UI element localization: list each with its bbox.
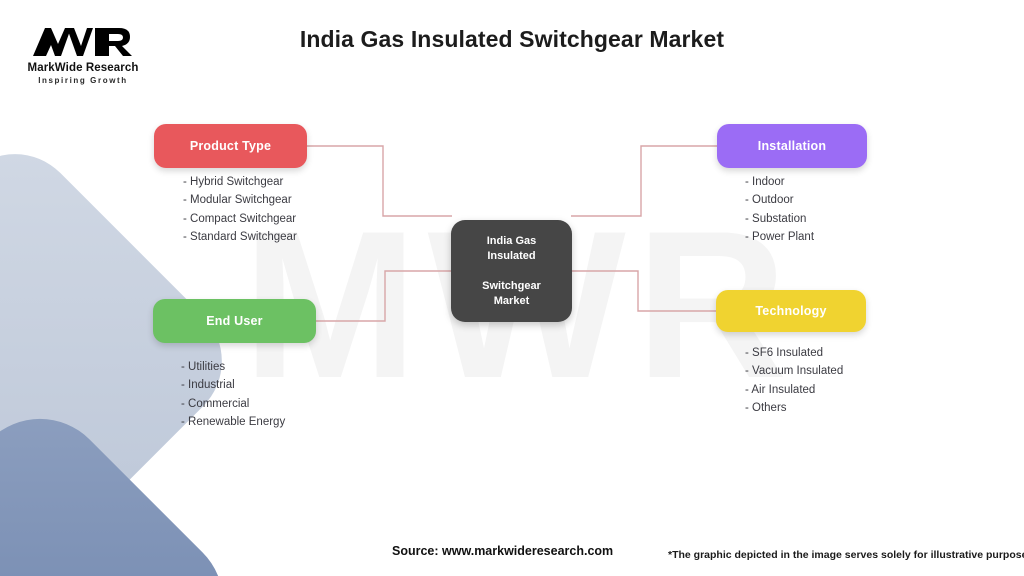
disclaimer-text: *The graphic depicted in the image serve… (668, 549, 1024, 561)
list-item: - Power Plant (745, 228, 814, 246)
list-item: - Vacuum Insulated (745, 362, 843, 380)
list-item: - Others (745, 399, 843, 417)
hub-line-1: India Gas Insulated (459, 234, 564, 264)
category-list-end-user: - Utilities - Industrial - Commercial - … (181, 358, 285, 431)
list-item: - Substation (745, 210, 814, 228)
category-label-technology: Technology (755, 304, 826, 318)
connector-technology (571, 271, 716, 311)
list-item: - Commercial (181, 395, 285, 413)
list-item: - Renewable Energy (181, 413, 285, 431)
list-item: - Outdoor (745, 191, 814, 209)
category-list-installation: - Indoor - Outdoor - Substation - Power … (745, 173, 814, 246)
infographic-canvas: MWR MarkWide Research Inspiring Growth I… (0, 0, 1024, 576)
hub-line-2: Switchgear Market (459, 279, 564, 309)
list-item: - Modular Switchgear (183, 191, 297, 209)
list-item: - Hybrid Switchgear (183, 173, 297, 191)
list-item: - Standard Switchgear (183, 228, 297, 246)
category-box-product-type[interactable]: Product Type (154, 124, 307, 168)
source-text: Source: www.markwideresearch.com (392, 544, 613, 558)
connector-installation (571, 146, 717, 216)
list-item: - Indoor (745, 173, 814, 191)
list-item: - SF6 Insulated (745, 344, 843, 362)
category-label-product-type: Product Type (190, 139, 271, 153)
category-box-end-user[interactable]: End User (153, 299, 316, 343)
connector-end-user (316, 271, 452, 321)
category-list-technology: - SF6 Insulated - Vacuum Insulated - Air… (745, 344, 843, 417)
connector-product-type (307, 146, 452, 216)
center-hub: India Gas Insulated Switchgear Market (451, 220, 572, 322)
category-label-end-user: End User (206, 314, 262, 328)
category-box-technology[interactable]: Technology (716, 290, 866, 332)
list-item: - Industrial (181, 376, 285, 394)
category-box-installation[interactable]: Installation (717, 124, 867, 168)
category-label-installation: Installation (758, 139, 826, 153)
list-item: - Utilities (181, 358, 285, 376)
list-item: - Compact Switchgear (183, 210, 297, 228)
category-list-product-type: - Hybrid Switchgear - Modular Switchgear… (183, 173, 297, 246)
list-item: - Air Insulated (745, 381, 843, 399)
